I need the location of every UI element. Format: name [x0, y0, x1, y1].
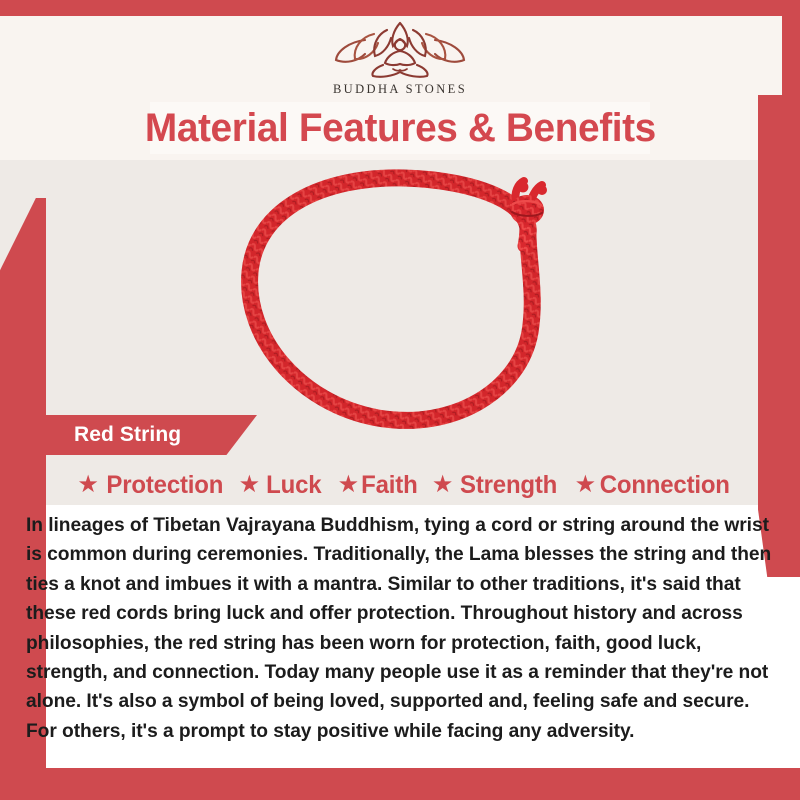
product-description: In lineages of Tibetan Vajrayana Buddhis…	[26, 511, 778, 746]
benefit-item-strength: ★ Strength	[432, 471, 560, 500]
product-tag-banner: Red String	[22, 415, 257, 455]
star-icon: ★	[575, 473, 597, 497]
star-icon: ★	[239, 473, 261, 497]
star-icon: ★	[432, 473, 454, 497]
infographic-page: BUDDHA STONES Material Features & Benefi…	[0, 0, 800, 800]
decorative-bottom-border	[0, 768, 800, 800]
decorative-top-border	[0, 0, 800, 16]
decorative-right-bar	[758, 95, 800, 577]
star-icon: ★	[338, 473, 360, 497]
benefit-item-protection: ★ Protection	[77, 471, 225, 500]
product-tag-label: Red String	[74, 423, 181, 447]
headline-banner: Material Features & Benefits	[150, 102, 650, 154]
page-title: Material Features & Benefits	[145, 108, 656, 148]
benefit-label: Luck	[266, 471, 321, 500]
benefit-item-connection: ★ Connection	[575, 471, 733, 500]
benefit-item-faith: ★ Faith	[338, 471, 419, 500]
star-icon: ★	[77, 473, 99, 497]
benefit-item-luck: ★ Luck	[239, 471, 323, 500]
brand-name: BUDDHA STONES	[333, 82, 467, 97]
benefit-label: Protection	[106, 471, 223, 500]
product-image-red-string-bracelet	[228, 168, 572, 434]
lotus-meditating-figure-icon	[325, 18, 475, 80]
benefit-label: Faith	[361, 471, 417, 500]
benefit-label: Strength	[460, 471, 557, 500]
brand-logo: BUDDHA STONES	[0, 18, 800, 100]
benefit-label: Connection	[600, 471, 730, 500]
benefits-list: ★ Protection ★ Luck ★ Faith ★ Strength ★…	[38, 468, 772, 502]
